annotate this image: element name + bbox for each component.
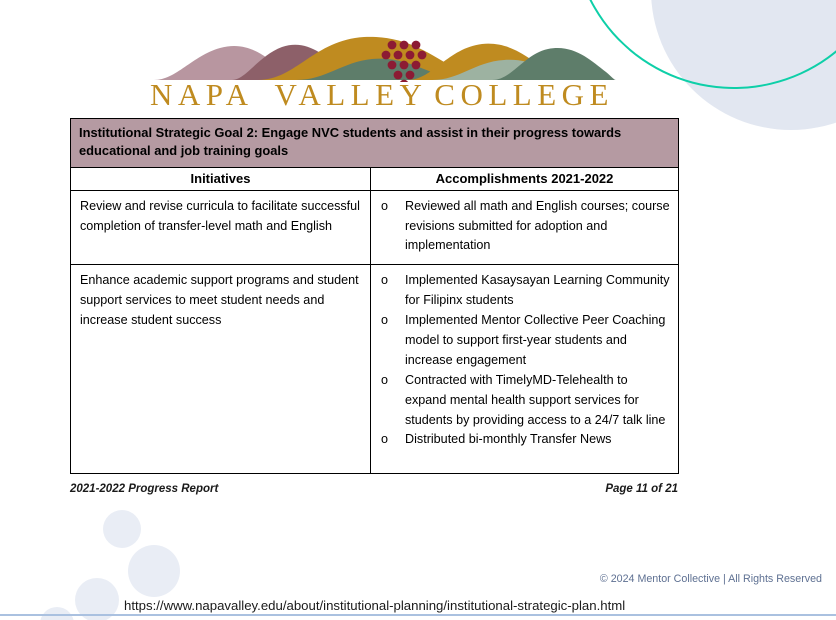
bullet-circle-icon: o <box>377 430 405 450</box>
accomplishments-list: o Reviewed all math and English courses;… <box>377 197 672 257</box>
list-item: o Implemented Kasaysayan Learning Commun… <box>377 271 672 311</box>
document-footer: 2021-2022 Progress Report Page 11 of 21 <box>70 483 678 495</box>
footer-report-title: 2021-2022 Progress Report <box>70 483 218 495</box>
table-row: Enhance academic support programs and st… <box>71 265 679 474</box>
column-header-accomplishments: Accomplishments 2021-2022 <box>371 167 679 190</box>
logo-word-napa: NAPA <box>150 77 254 113</box>
bullet-circle-icon: o <box>377 371 405 391</box>
goal-banner-cell: Institutional Strategic Goal 2: Engage N… <box>71 119 679 168</box>
accomplishment-text: Contracted with TimelyMD-Telehealth to e… <box>405 371 672 431</box>
accomplishment-text: Reviewed all math and English courses; c… <box>405 197 672 257</box>
logo-wordmark: NAPA VALLEY COLLEGE <box>146 78 616 112</box>
source-url-bar: https://www.napavalley.edu/about/institu… <box>0 594 836 620</box>
bullet-circle-icon: o <box>377 311 405 331</box>
bullet-circle-icon: o <box>377 197 405 217</box>
url-divider <box>0 614 836 616</box>
accomplishment-text: Implemented Kasaysayan Learning Communit… <box>405 271 672 311</box>
accomplishments-cell: o Implemented Kasaysayan Learning Commun… <box>371 265 679 474</box>
initiative-cell: Enhance academic support programs and st… <box>71 265 371 474</box>
footer-page-number: Page 11 of 21 <box>605 483 678 495</box>
initiative-cell: Review and revise curricula to facilitat… <box>71 190 371 265</box>
logo-word-college: COLLEGE <box>434 77 614 113</box>
copyright-notice: © 2024 Mentor Collective | All Rights Re… <box>600 573 822 585</box>
table-banner-row: Institutional Strategic Goal 2: Engage N… <box>71 119 679 168</box>
napa-valley-college-logo: NAPA VALLEY COLLEGE <box>146 34 616 112</box>
accomplishments-list: o Implemented Kasaysayan Learning Commun… <box>377 271 672 450</box>
list-item: o Implemented Mentor Collective Peer Coa… <box>377 311 672 371</box>
column-header-initiatives: Initiatives <box>71 167 371 190</box>
list-item: o Contracted with TimelyMD-Telehealth to… <box>377 371 672 431</box>
slide-content: NAPA VALLEY COLLEGE Institutional Strate… <box>0 0 836 620</box>
strategic-goal-table: Institutional Strategic Goal 2: Engage N… <box>70 118 679 474</box>
table-header-row: Initiatives Accomplishments 2021-2022 <box>71 167 679 190</box>
logo-word-valley: VALLEY <box>274 77 427 113</box>
accomplishment-text: Distributed bi-monthly Transfer News <box>405 430 672 450</box>
table-row: Review and revise curricula to facilitat… <box>71 190 679 265</box>
accomplishments-cell: o Reviewed all math and English courses;… <box>371 190 679 265</box>
list-item: o Distributed bi-monthly Transfer News <box>377 430 672 450</box>
source-url-text[interactable]: https://www.napavalley.edu/about/institu… <box>124 598 625 613</box>
logo-hills-icon <box>146 34 616 82</box>
list-item: o Reviewed all math and English courses;… <box>377 197 672 257</box>
accomplishment-text: Implemented Mentor Collective Peer Coach… <box>405 311 672 371</box>
bullet-circle-icon: o <box>377 271 405 291</box>
